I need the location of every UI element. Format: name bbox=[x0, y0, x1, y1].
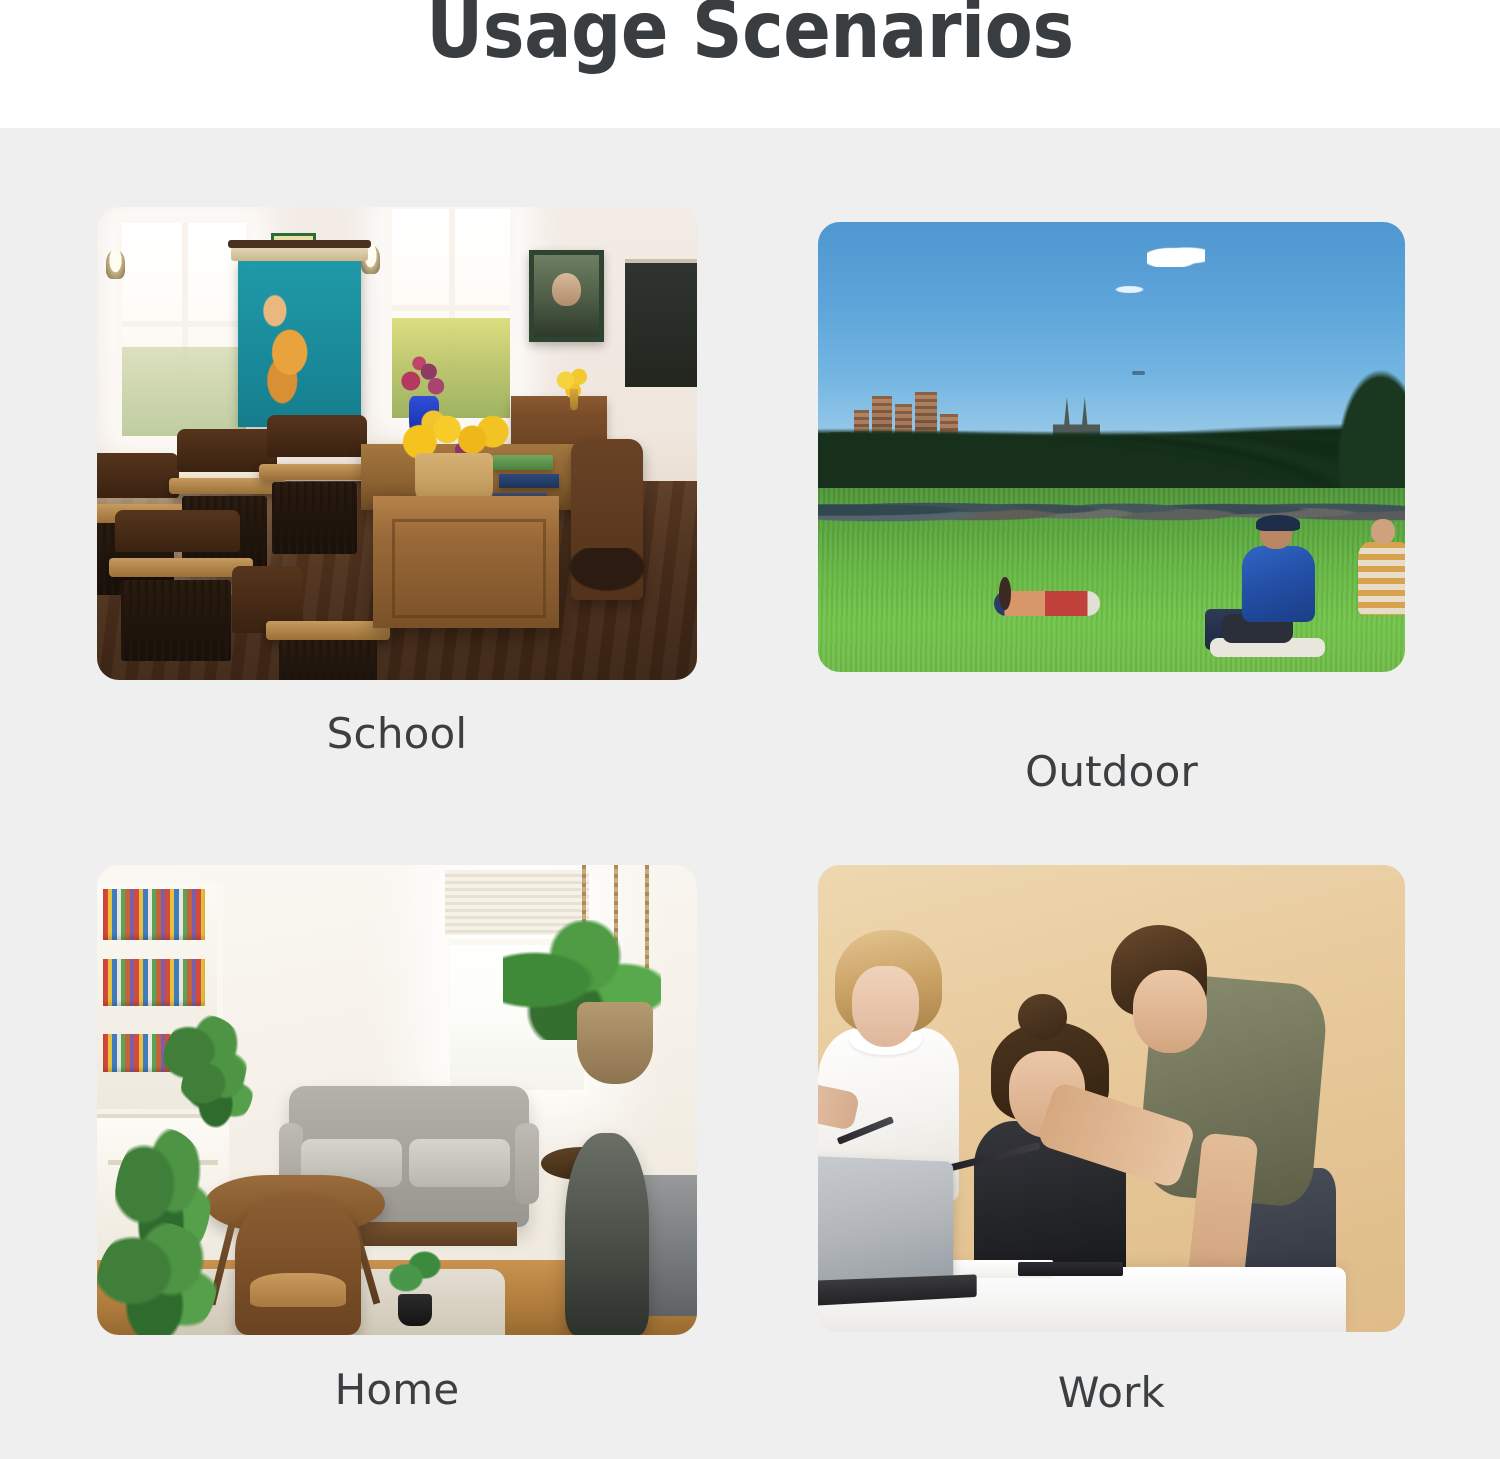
body-area: School bbox=[0, 128, 1500, 1459]
scenario-image-school[interactable] bbox=[97, 207, 697, 680]
macrame-hanging-planter bbox=[553, 865, 685, 1133]
cloud bbox=[1112, 285, 1147, 294]
framed-portrait bbox=[529, 250, 604, 342]
scenario-card-work[interactable]: Work bbox=[818, 865, 1405, 1332]
scenario-image-outdoor[interactable] bbox=[818, 222, 1405, 672]
tablet-device bbox=[1018, 1262, 1124, 1276]
wall-lamp-left-icon bbox=[106, 250, 125, 279]
airplane-icon bbox=[1132, 371, 1145, 376]
houseplant bbox=[181, 1053, 253, 1128]
book-row bbox=[103, 889, 205, 941]
scenario-card-school[interactable]: School bbox=[97, 207, 697, 680]
blackboard bbox=[625, 259, 697, 387]
desk-chair bbox=[565, 1133, 649, 1335]
scenario-grid: School bbox=[0, 128, 1500, 1459]
book-stack bbox=[499, 474, 559, 488]
book-row bbox=[103, 959, 205, 1006]
scenario-card-outdoor[interactable]: Outdoor bbox=[818, 222, 1405, 672]
scenario-label-work: Work bbox=[818, 1368, 1405, 1417]
scenario-card-home[interactable]: Home bbox=[97, 865, 697, 1335]
laptop bbox=[818, 1156, 953, 1284]
bentwood-chair bbox=[235, 1194, 361, 1335]
cloud bbox=[1147, 245, 1206, 268]
yellow-flowers bbox=[553, 363, 595, 406]
teacher-chair bbox=[571, 439, 643, 600]
page-title: Usage Scenarios bbox=[75, 0, 1425, 70]
pull-down-usa-map bbox=[238, 261, 361, 427]
scenario-label-outdoor: Outdoor bbox=[818, 747, 1405, 796]
teacher-desk-front bbox=[373, 496, 559, 628]
person-lying-on-grass bbox=[994, 591, 1100, 616]
scenario-image-work[interactable] bbox=[818, 865, 1405, 1332]
scenario-label-school: School bbox=[97, 709, 697, 758]
header-band: Usage Scenarios bbox=[0, 0, 1500, 128]
tree-right bbox=[1335, 366, 1405, 501]
potted-plant bbox=[385, 1250, 445, 1325]
houseplant bbox=[97, 1222, 217, 1335]
scenario-label-home: Home bbox=[97, 1365, 697, 1414]
person-sitting-blue-shirt bbox=[1241, 519, 1317, 654]
student-desk bbox=[229, 566, 397, 680]
usage-scenarios-page: Usage Scenarios bbox=[0, 0, 1500, 1459]
person-sitting-right bbox=[1358, 519, 1405, 645]
distant-crowd bbox=[818, 483, 1405, 528]
scenario-image-home[interactable] bbox=[97, 865, 697, 1335]
